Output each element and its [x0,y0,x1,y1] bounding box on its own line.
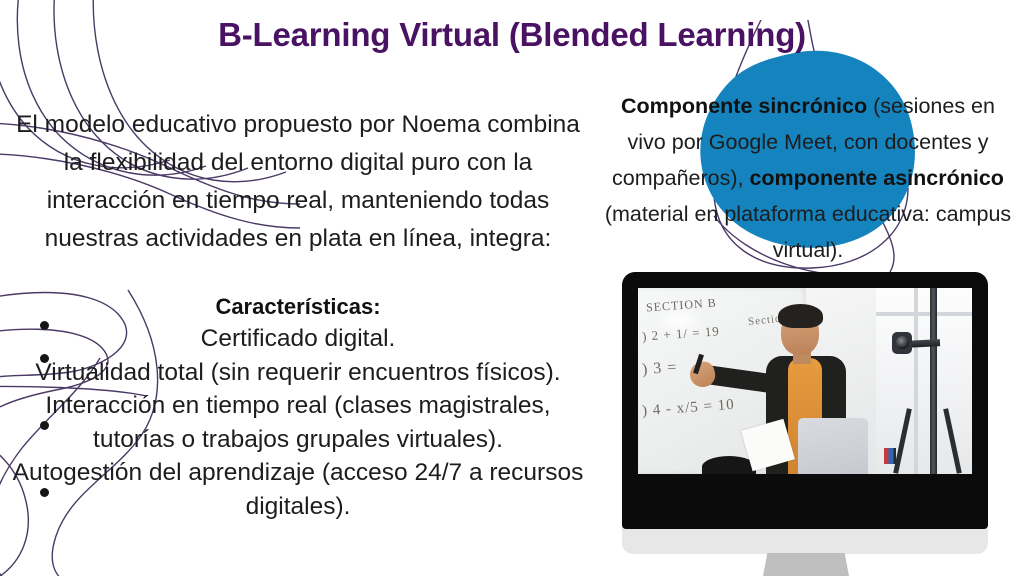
photo-light-stand-pole [930,288,937,474]
list-item: Interacción en tiempo real (clases magis… [8,389,588,456]
monitor-screen-photo: SECTION B ) 2 + 1/ = 19 ) 3 = ) 4 - x/5 … [638,288,972,474]
photo-window-mullion-horizontal [876,312,972,316]
photo-laptop [798,418,868,474]
list-item: Autogestión del aprendizaje (acceso 24/7… [8,456,588,523]
async-component-detail: (material en plataforma educativa: campu… [605,202,1011,262]
list-item: Certificado digital. [8,322,588,356]
list-item: Virtualidad total (sin requerir encuentr… [8,356,588,390]
photo-pens [884,448,896,464]
right-content-column: Componente sincrónico (sesiones en vivo … [600,88,1016,268]
desktop-monitor-illustration: SECTION B ) 2 + 1/ = 19 ) 3 = ) 4 - x/5 … [600,272,1020,576]
left-content-column: El modelo educativo propuesto por Noema … [8,106,588,523]
sync-component-label: Componente sincrónico [621,94,867,118]
bullet-dot [40,354,49,363]
whiteboard-text-line: ) 3 = [641,359,678,379]
features-list: Certificado digital. Virtualidad total (… [8,322,588,523]
photo-camera-lens [896,336,909,349]
features-heading: Características: [8,294,588,320]
bullet-dot [40,488,49,497]
intro-paragraph: El modelo educativo propuesto por Noema … [8,106,588,258]
photo-chair [702,456,756,474]
bullet-dot [40,321,49,330]
async-component-label: componente asincrónico [749,166,1003,190]
slide-canvas: B-Learning Virtual (Blended Learning) El… [0,0,1024,576]
monitor-stand [760,553,852,576]
page-title: B-Learning Virtual (Blended Learning) [0,16,1024,54]
bullet-dot [40,421,49,430]
photo-teacher-hair [778,304,823,328]
